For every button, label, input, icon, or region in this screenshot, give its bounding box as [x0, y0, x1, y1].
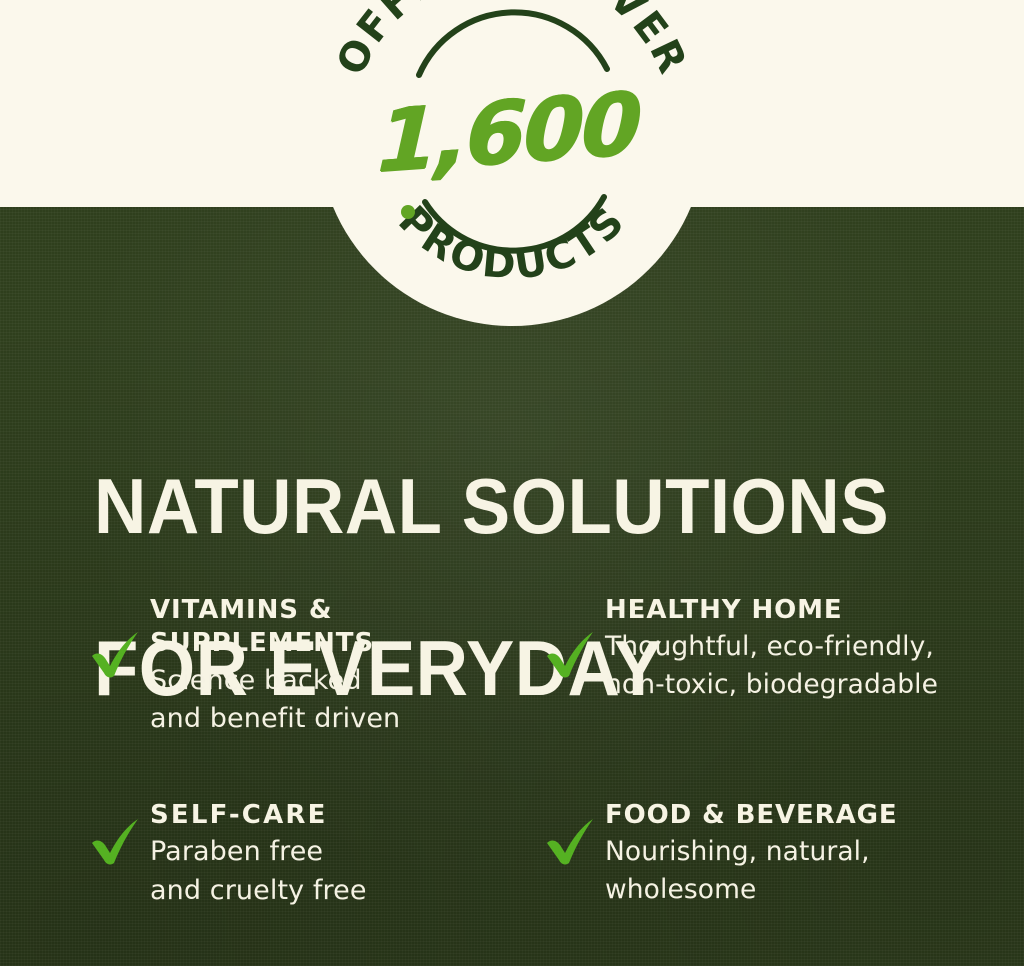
feature-title: SELF-CARE: [150, 799, 367, 832]
feature-healthy-home: HEALTHY HOME Thoughtful, eco-friendly, n…: [543, 592, 988, 797]
feature-description: Paraben free and cruelty free: [150, 833, 367, 910]
dot-left-icon: [401, 205, 415, 219]
promo-poster: OFFERING OVER PRODUCTS 1,600 NATURAL SOL…: [0, 0, 1024, 966]
check-icon: [543, 626, 601, 684]
feature-text: VITAMINS & SUPPLEMENTS Science backed an…: [150, 592, 400, 738]
feature-grid: VITAMINS & SUPPLEMENTS Science backed an…: [88, 592, 988, 910]
badge-graphics: OFFERING OVER PRODUCTS: [318, 0, 706, 326]
feature-description: Thoughtful, eco-friendly, non-toxic, bio…: [605, 628, 938, 703]
feature-description: Science backed and benefit driven: [150, 662, 400, 739]
feature-title: FOOD & BEVERAGE: [605, 799, 898, 832]
feature-vitamins-supplements: VITAMINS & SUPPLEMENTS Science backed an…: [88, 592, 543, 797]
arc-rule-top-icon: [419, 12, 607, 75]
feature-description: Nourishing, natural, wholesome: [605, 833, 898, 908]
check-icon: [88, 626, 146, 684]
feature-text: SELF-CARE Paraben free and cruelty free: [150, 797, 367, 910]
dot-right-icon: [624, 96, 638, 110]
feature-food-beverage: FOOD & BEVERAGE Nourishing, natural, who…: [543, 797, 988, 910]
feature-text: FOOD & BEVERAGE Nourishing, natural, who…: [605, 797, 898, 909]
feature-self-care: SELF-CARE Paraben free and cruelty free: [88, 797, 543, 910]
check-icon: [88, 813, 146, 871]
feature-title: HEALTHY HOME: [605, 594, 938, 627]
offering-over-badge: OFFERING OVER PRODUCTS 1,600: [318, 0, 706, 326]
check-icon: [543, 813, 601, 871]
feature-text: HEALTHY HOME Thoughtful, eco-friendly, n…: [605, 592, 938, 704]
feature-title: VITAMINS & SUPPLEMENTS: [150, 594, 400, 661]
headline-line-1: NATURAL SOLUTIONS: [94, 466, 889, 547]
